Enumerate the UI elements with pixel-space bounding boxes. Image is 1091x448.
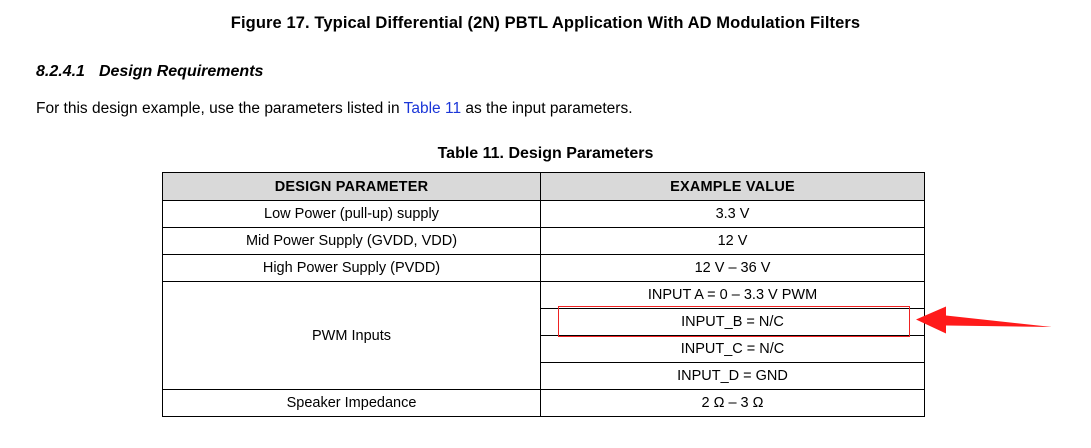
pwm-value-row: INPUT_B = N/C xyxy=(541,309,924,336)
paragraph-text-before: For this design example, use the paramet… xyxy=(36,100,404,117)
pwm-value-row: INPUT_D = GND xyxy=(541,363,924,390)
cell-parameter: Mid Power Supply (GVDD, VDD) xyxy=(163,228,541,255)
cell-value: 2 Ω – 3 Ω xyxy=(541,390,925,417)
column-header-example-value: EXAMPLE VALUE xyxy=(541,173,925,201)
table-row: Low Power (pull-up) supply 3.3 V xyxy=(163,201,925,228)
cell-parameter: High Power Supply (PVDD) xyxy=(163,255,541,282)
cell-value: 12 V xyxy=(541,228,925,255)
pwm-value-row: INPUT_C = N/C xyxy=(541,336,924,363)
table-row: Mid Power Supply (GVDD, VDD) 12 V xyxy=(163,228,925,255)
table-11-link[interactable]: Table 11 xyxy=(404,100,461,117)
table-header-row: DESIGN PARAMETER EXAMPLE VALUE xyxy=(163,173,925,201)
pwm-value-input-d: INPUT_D = GND xyxy=(541,363,924,390)
column-header-design-parameter: DESIGN PARAMETER xyxy=(163,173,541,201)
table-row: High Power Supply (PVDD) 12 V – 36 V xyxy=(163,255,925,282)
cell-parameter: Low Power (pull-up) supply xyxy=(163,201,541,228)
cell-parameter-pwm-inputs: PWM Inputs xyxy=(163,282,541,390)
body-paragraph: For this design example, use the paramet… xyxy=(36,100,633,118)
pwm-value-input-a: INPUT A = 0 – 3.3 V PWM xyxy=(541,282,924,309)
clipped-header-text xyxy=(0,0,1091,5)
red-arrow-annotation xyxy=(916,300,1052,344)
table-title: Table 11. Design Parameters xyxy=(0,145,1091,163)
pwm-value-input-b: INPUT_B = N/C xyxy=(541,309,924,336)
section-number: 8.2.4.1 xyxy=(36,63,85,80)
paragraph-text-after: as the input parameters. xyxy=(461,100,632,117)
figure-caption: Figure 17. Typical Differential (2N) PBT… xyxy=(0,14,1091,33)
design-parameters-table: DESIGN PARAMETER EXAMPLE VALUE Low Power… xyxy=(162,172,925,417)
table-row-pwm-inputs: PWM Inputs INPUT A = 0 – 3.3 V PWM INPUT… xyxy=(163,282,925,390)
pwm-value-list: INPUT A = 0 – 3.3 V PWM INPUT_B = N/C IN… xyxy=(541,282,924,389)
cell-parameter: Speaker Impedance xyxy=(163,390,541,417)
table-row: Speaker Impedance 2 Ω – 3 Ω xyxy=(163,390,925,417)
section-heading: 8.2.4.1Design Requirements xyxy=(36,63,263,81)
section-title: Design Requirements xyxy=(99,63,263,80)
cell-value: 3.3 V xyxy=(541,201,925,228)
pwm-value-input-c: INPUT_C = N/C xyxy=(541,336,924,363)
cell-value: 12 V – 36 V xyxy=(541,255,925,282)
pwm-value-row: INPUT A = 0 – 3.3 V PWM xyxy=(541,282,924,309)
cell-value-pwm-stack: INPUT A = 0 – 3.3 V PWM INPUT_B = N/C IN… xyxy=(541,282,925,390)
